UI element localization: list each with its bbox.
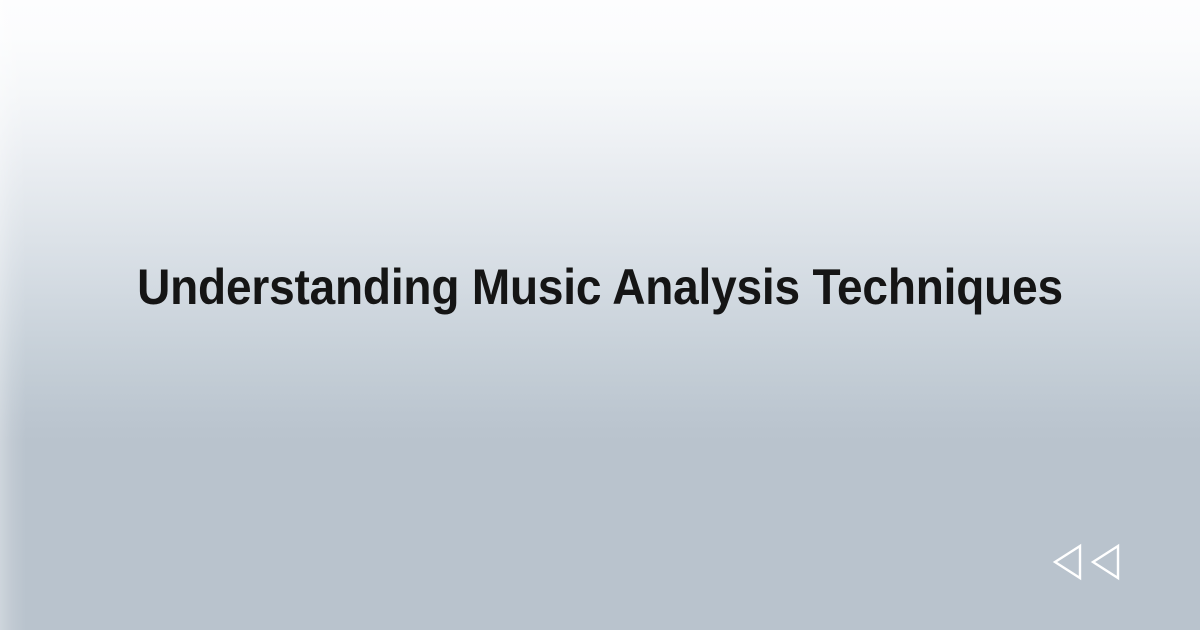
left-triangle-outline-icon [1090, 543, 1122, 581]
left-triangle-outline-icon [1052, 543, 1084, 581]
previous-icon-1[interactable] [1052, 543, 1084, 581]
title-banner: Understanding Music Analysis Techniques [0, 0, 1200, 630]
navigation-controls[interactable] [1052, 541, 1128, 583]
page-title: Understanding Music Analysis Techniques [131, 258, 1069, 317]
title-block: Understanding Music Analysis Techniques [0, 258, 1200, 317]
previous-icon-2[interactable] [1090, 543, 1122, 581]
